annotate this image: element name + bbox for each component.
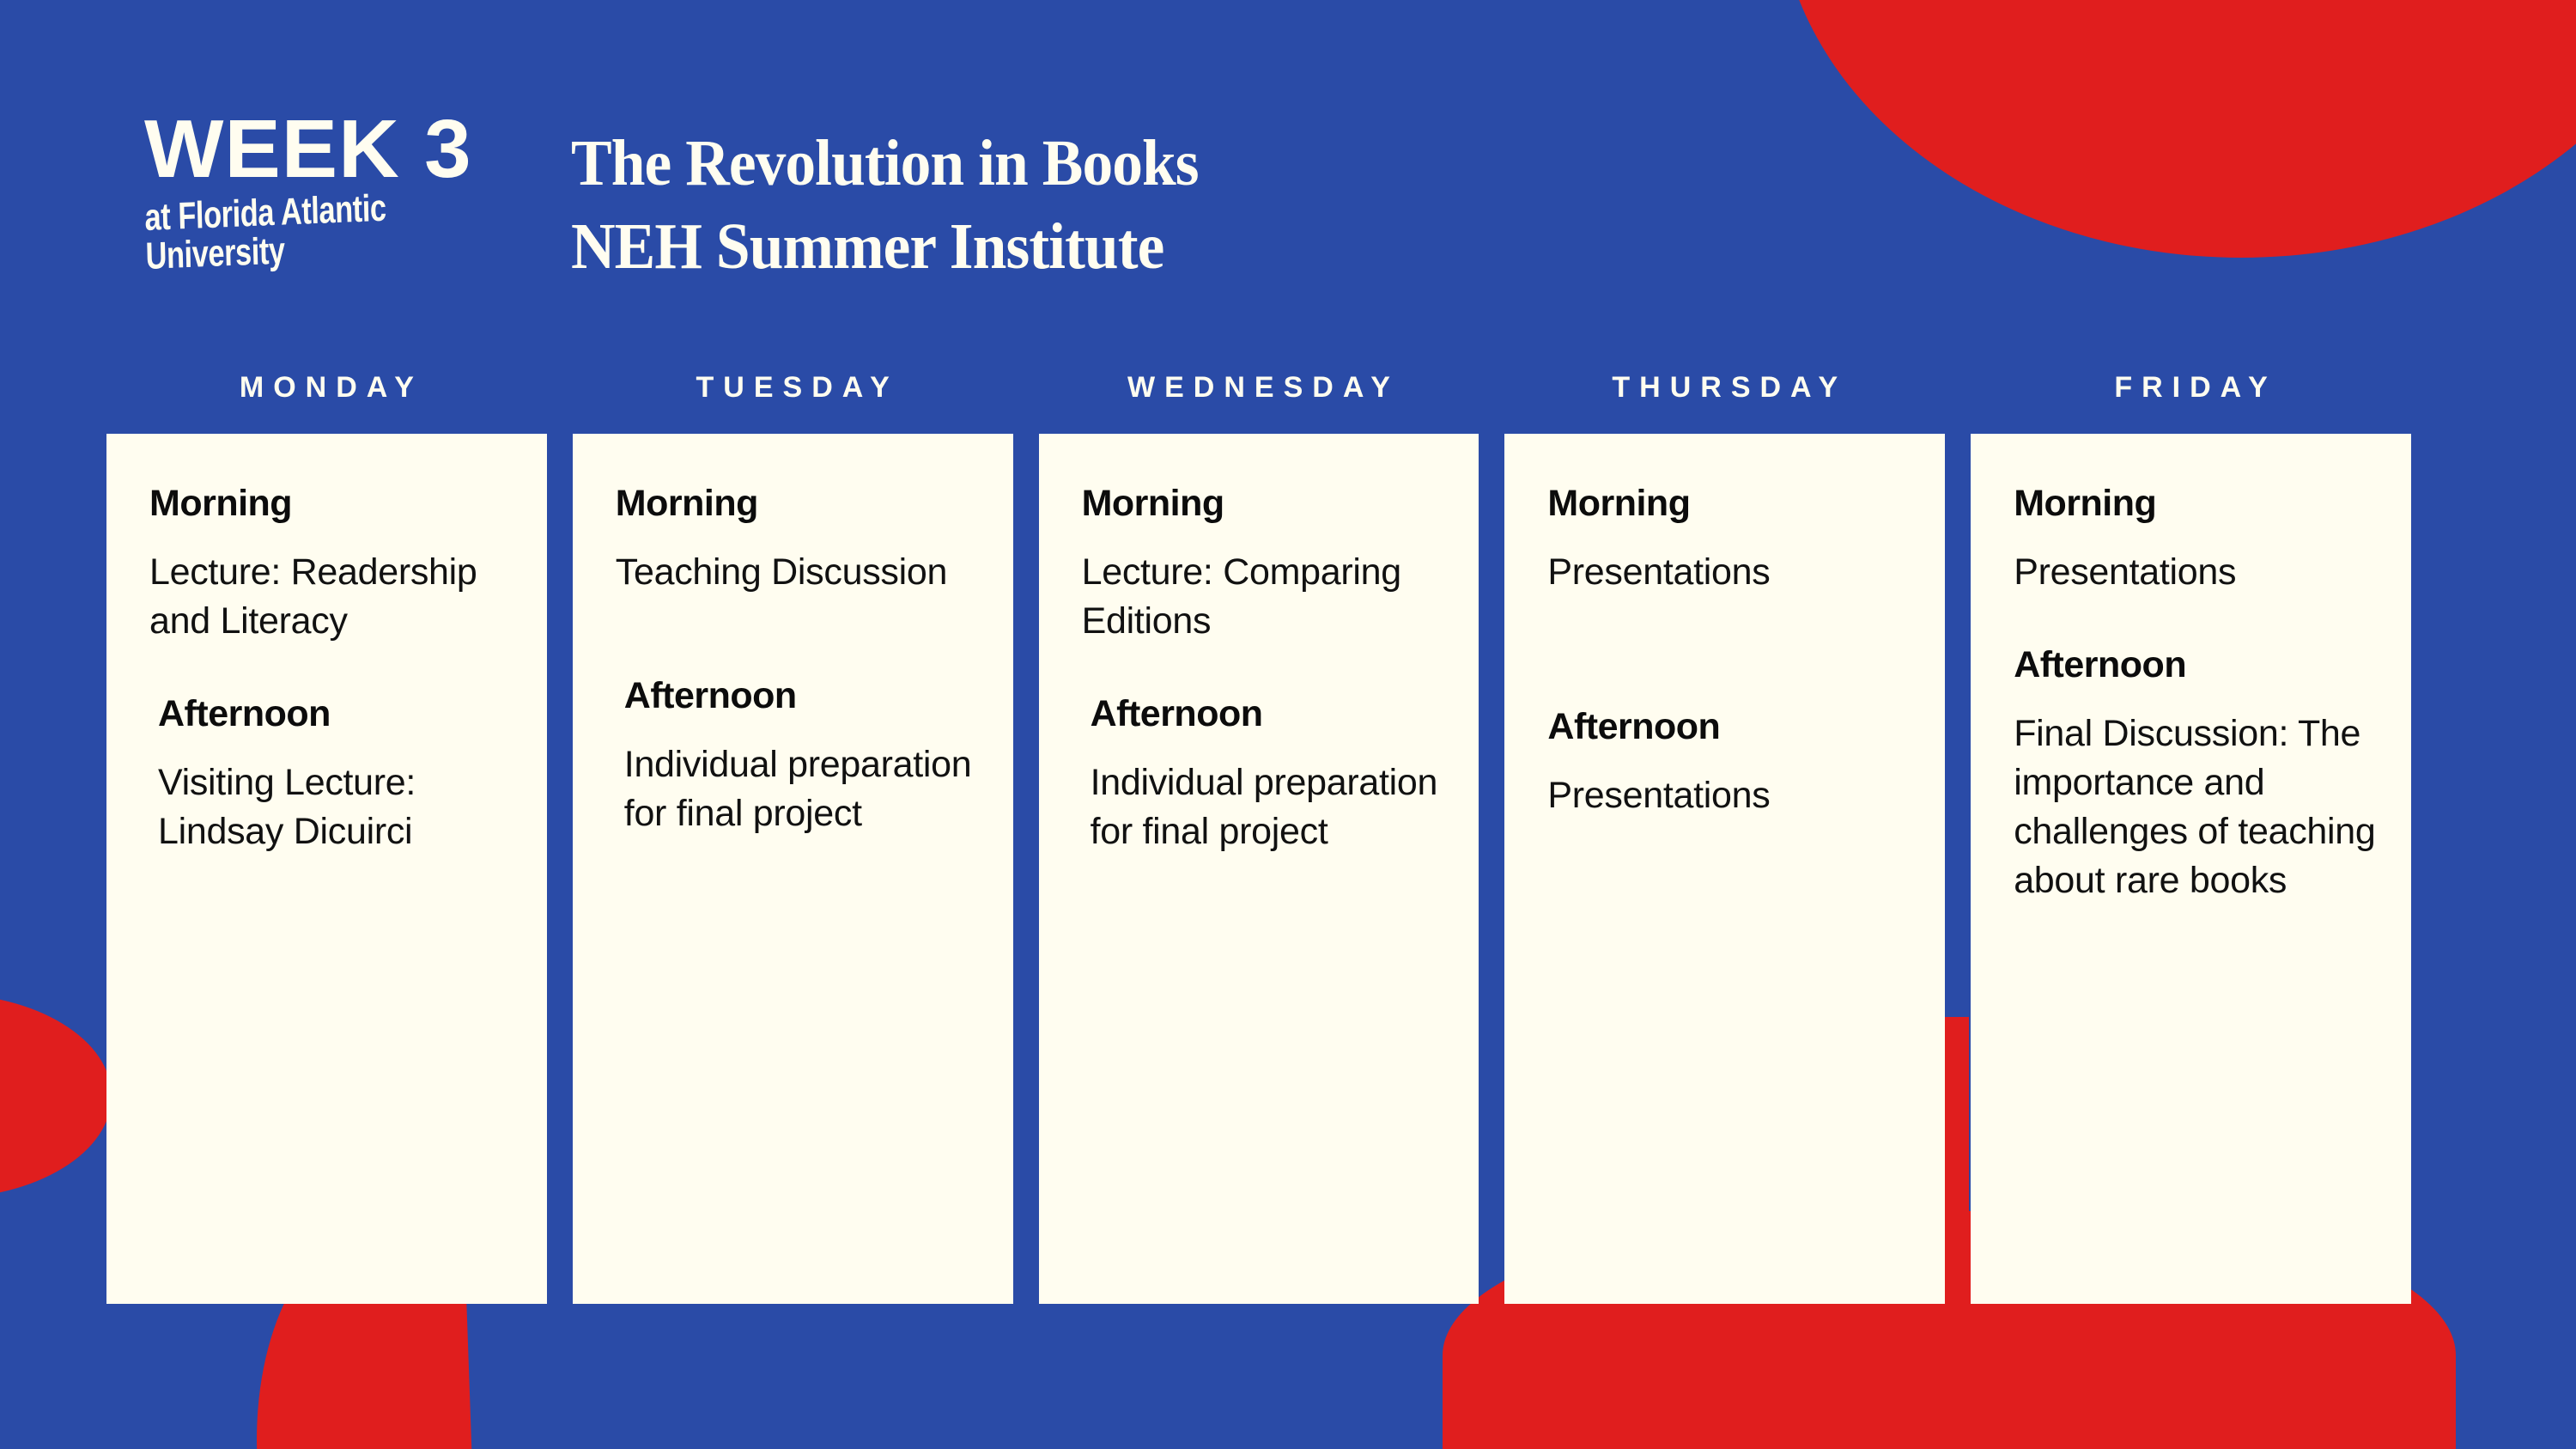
monday-morning-label: Morning bbox=[149, 484, 513, 524]
spacer bbox=[616, 597, 979, 676]
friday-afternoon-label: Afternoon bbox=[2014, 645, 2377, 685]
wednesday-afternoon-activity: Individual preparation for final project bbox=[1082, 758, 1445, 856]
wednesday-afternoon-label: Afternoon bbox=[1082, 694, 1445, 734]
spacer bbox=[616, 716, 979, 740]
tuesday-morning-label: Morning bbox=[616, 484, 979, 524]
wednesday-morning-activity: Lecture: Comparing Editions bbox=[1082, 548, 1445, 646]
monday-afternoon-activity: Visiting Lecture: Lindsay Dicuirci bbox=[149, 758, 513, 856]
spacer bbox=[616, 524, 979, 548]
spacer bbox=[2014, 524, 2377, 548]
schedule-poster: WEEK 3 at Florida Atlantic University Th… bbox=[0, 0, 2576, 1449]
monday-afternoon-label: Afternoon bbox=[149, 694, 513, 734]
title-line-2: NEH Summer Institute bbox=[571, 205, 1199, 289]
spacer bbox=[1547, 597, 1911, 707]
week-subtitle: at Florida Atlantic University bbox=[144, 183, 548, 277]
day-header-tuesday: TUESDAY bbox=[573, 371, 1013, 405]
title-line-1: The Revolution in Books bbox=[571, 122, 1199, 205]
day-card-friday: Morning Presentations Afternoon Final Di… bbox=[1971, 434, 2411, 1304]
thursday-afternoon-activity: Presentations bbox=[1547, 771, 1911, 820]
spacer bbox=[1082, 734, 1445, 758]
friday-morning-label: Morning bbox=[2014, 484, 2377, 524]
spacer bbox=[1082, 524, 1445, 548]
spacer bbox=[1547, 524, 1911, 548]
spacer bbox=[2014, 597, 2377, 645]
wednesday-morning-label: Morning bbox=[1082, 484, 1445, 524]
tuesday-afternoon-label: Afternoon bbox=[616, 676, 979, 716]
day-card-tuesday: Morning Teaching Discussion Afternoon In… bbox=[573, 434, 1013, 1304]
monday-morning-activity: Lecture: Readership and Literacy bbox=[149, 548, 513, 646]
spacer bbox=[149, 734, 513, 758]
day-header-wednesday: WEDNESDAY bbox=[1039, 371, 1479, 405]
red-ellipse-left-decoration bbox=[0, 994, 112, 1198]
day-card-wednesday: Morning Lecture: Comparing Editions Afte… bbox=[1039, 434, 1479, 1304]
day-card-thursday: Morning Presentations Afternoon Presenta… bbox=[1504, 434, 1945, 1304]
friday-afternoon-activity: Final Discussion: The importance and cha… bbox=[2014, 709, 2377, 904]
friday-morning-activity: Presentations bbox=[2014, 548, 2377, 597]
spacer bbox=[1547, 747, 1911, 771]
spacer bbox=[149, 646, 513, 694]
thursday-morning-activity: Presentations bbox=[1547, 548, 1911, 597]
spacer bbox=[2014, 685, 2377, 709]
day-header-monday: MONDAY bbox=[106, 371, 547, 405]
thursday-afternoon-label: Afternoon bbox=[1547, 707, 1911, 747]
day-card-monday: Morning Lecture: Readership and Literacy… bbox=[106, 434, 547, 1304]
week-branding-block: WEEK 3 at Florida Atlantic University bbox=[144, 112, 548, 277]
schedule-card-row: Morning Lecture: Readership and Literacy… bbox=[106, 434, 2411, 1304]
thursday-morning-label: Morning bbox=[1547, 484, 1911, 524]
tuesday-morning-activity: Teaching Discussion bbox=[616, 548, 979, 597]
day-header-friday: FRIDAY bbox=[1971, 371, 2411, 405]
poster-header: WEEK 3 at Florida Atlantic University Th… bbox=[0, 0, 2576, 344]
spacer bbox=[149, 524, 513, 548]
week-label: WEEK 3 bbox=[144, 112, 556, 187]
page-title: The Revolution in Books NEH Summer Insti… bbox=[571, 122, 1238, 289]
day-header-thursday: THURSDAY bbox=[1504, 371, 1945, 405]
spacer bbox=[1082, 646, 1445, 694]
tuesday-afternoon-activity: Individual preparation for final project bbox=[616, 740, 979, 838]
day-header-row: MONDAY TUESDAY WEDNESDAY THURSDAY FRIDAY bbox=[106, 371, 2411, 405]
